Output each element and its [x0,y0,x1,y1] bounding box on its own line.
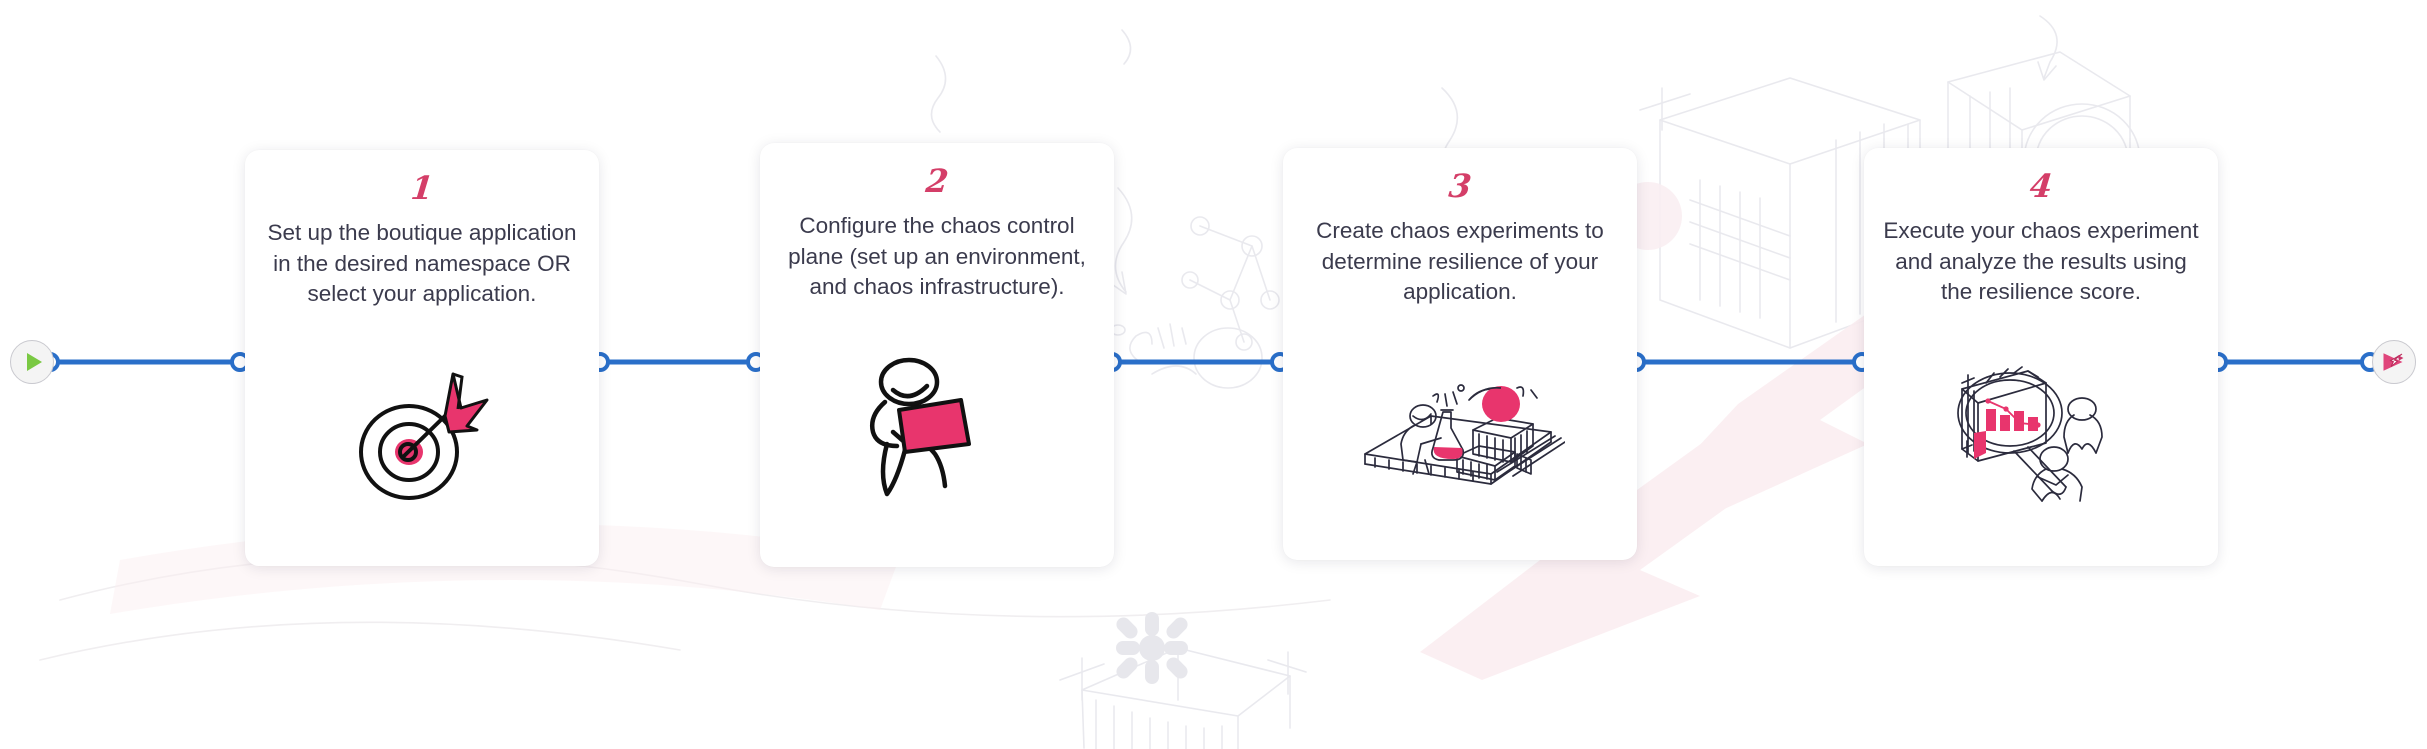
target-with-arrow-illustration [337,360,507,510]
watermark-node-graph-icon [1182,217,1279,350]
step-illustration [1864,308,2218,566]
chaos-steps-timeline: 1 Set up the boutique application in the… [0,0,2427,749]
step-illustration [245,310,599,566]
watermark-contour-icon [40,556,1330,660]
step-card-4[interactable]: 4 Execute your chaos experiment and anal… [1864,148,2218,566]
play-icon [27,353,42,371]
litmus-logo-icon [2381,349,2407,375]
step-card-1[interactable]: 1 Set up the boutique application in the… [245,150,599,566]
watermark-squiggle-icon [931,30,1130,132]
step-number: 1 [410,172,435,204]
watermark-k8s-wheel-icon [1114,612,1191,684]
step-illustration [760,303,1114,567]
scientist-experiment-illustration [1355,368,1565,493]
step-description: Configure the chaos control plane (set u… [760,211,1114,303]
step-number: 2 [925,165,950,197]
timeline-end-button[interactable] [2372,340,2416,384]
magnifier-chart-analysis-illustration [1934,361,2149,506]
watermark-flask-figure-icon [1111,324,1262,388]
step-description: Create chaos experiments to determine re… [1283,216,1637,308]
step-number: 3 [1448,170,1473,202]
step-card-3[interactable]: 3 Create chaos experiments to determine … [1283,148,1637,560]
step-card-2[interactable]: 2 Configure the chaos control plane (set… [760,143,1114,567]
step-number: 4 [2029,170,2054,202]
step-description: Set up the boutique application in the d… [245,218,599,310]
person-with-laptop-illustration [857,354,1017,509]
step-illustration [1283,308,1637,560]
timeline-start-button[interactable] [10,340,54,384]
step-description: Execute your chaos experiment and analyz… [1864,216,2218,308]
watermark-platform-icon [1060,648,1306,749]
